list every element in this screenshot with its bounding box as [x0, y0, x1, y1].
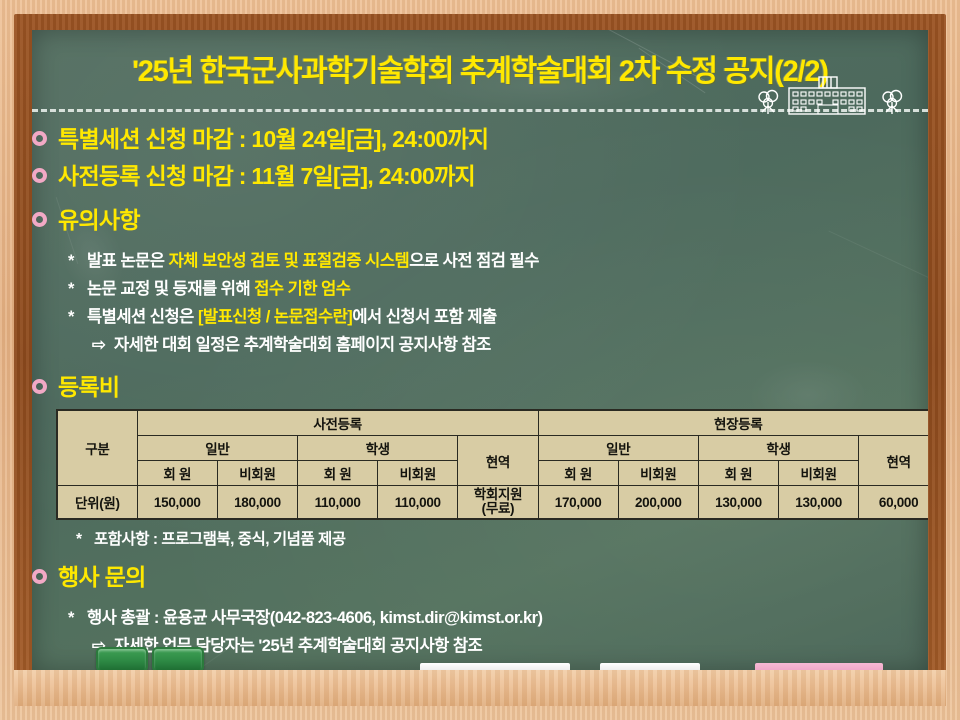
contact-item: * 행사 총괄 : 윤용균 사무국장(042-823-4606, kimst.d… — [32, 604, 928, 632]
group-header-onsite: 현장등록 — [538, 410, 928, 436]
table-header-row-2: 일반 학생 현역 일반 학생 현역 — [57, 436, 928, 461]
chalkboard-eraser[interactable] — [96, 647, 148, 672]
fee-onsite-general-nonmember: 200,000 — [618, 486, 698, 520]
fee-onsite-active-duty: 60,000 — [859, 486, 928, 520]
fee-pre-general-member: 150,000 — [137, 486, 217, 520]
notice-item-1: * 발표 논문은 자체 보안성 검토 및 표절검증 시스템으로 사전 점검 필수 — [32, 247, 928, 275]
notice-item-2: * 논문 교정 및 등재를 위해 접수 기한 엄수 — [32, 275, 928, 303]
asterisk-icon: * — [76, 527, 82, 553]
fees-footnote: * 포함사항 : 프로그램북, 중식, 기념품 제공 — [32, 527, 928, 553]
asterisk-icon: * — [68, 303, 74, 331]
chalk-ledge — [14, 670, 946, 706]
contact-heading-label: 행사 문의 — [58, 564, 146, 590]
fees-table-wrapper: 구분 사전등록 현장등록 일반 학생 현역 일반 학생 현역 회 원 비 — [32, 409, 928, 520]
leaf-header-6: 비회원 — [618, 461, 698, 486]
chalkboard: '25년 한국군사과학기술학회 추계학술대회 2차 수정 공지(2/2) — [32, 30, 928, 672]
asterisk-icon: * — [68, 604, 74, 632]
notices-heading: 유의사항 — [32, 203, 928, 237]
fees-footnote-text: 포함사항 : 프로그램북, 중식, 기념품 제공 — [94, 531, 345, 548]
fees-heading-label: 등록비 — [58, 374, 119, 400]
leaf-header-3: 회 원 — [298, 461, 378, 486]
notices-arrow-note-text: 자세한 대회 일정은 추계학술대회 홈페이지 공지사항 참조 — [114, 336, 491, 354]
deadline-1-label: 특별세션 신청 마감 : 10월 24일[금], 24:00까지 — [58, 126, 488, 152]
pink-ring-bullet-icon — [32, 168, 47, 183]
contact-item-text: 행사 총괄 : 윤용균 사무국장(042-823-4606, kimst.dir… — [87, 609, 543, 627]
fees-heading: 등록비 — [32, 370, 928, 404]
pink-ring-bullet-icon — [32, 212, 47, 227]
asterisk-icon: * — [68, 247, 74, 275]
notice-2-highlight: 접수 기한 엄수 — [254, 280, 350, 298]
chalkboard-eraser[interactable] — [152, 647, 204, 672]
notice-3-post: 에서 신청서 포함 제출 — [352, 308, 496, 326]
school-building-icon — [756, 72, 916, 118]
notices-heading-label: 유의사항 — [58, 207, 140, 233]
table-header-row-1: 구분 사전등록 현장등록 — [57, 410, 928, 436]
subgroup-onsite-general: 일반 — [538, 436, 698, 461]
content-area: 특별세션 신청 마감 : 10월 24일[금], 24:00까지 사전등록 신청… — [32, 122, 928, 672]
tree-icon — [759, 91, 778, 115]
leaf-header-7: 회 원 — [698, 461, 778, 486]
row-label-unit-won: 단위(원) — [57, 486, 137, 520]
fee-onsite-general-member: 170,000 — [538, 486, 618, 520]
free-line-2: (무료) — [482, 501, 515, 516]
right-arrow-icon: ⇨ — [92, 331, 105, 359]
table-corner-label: 구분 — [57, 410, 137, 486]
notice-1-post: 으로 사전 점검 필수 — [409, 252, 539, 270]
table-row: 단위(원) 150,000 180,000 110,000 110,000 학회… — [57, 486, 928, 520]
slide-root: '25년 한국군사과학기술학회 추계학술대회 2차 수정 공지(2/2) — [0, 0, 960, 720]
leaf-header-1: 회 원 — [137, 461, 217, 486]
fees-table: 구분 사전등록 현장등록 일반 학생 현역 일반 학생 현역 회 원 비 — [56, 409, 928, 520]
fee-pre-active-duty: 학회지원(무료) — [458, 486, 538, 520]
deadline-2-label: 사전등록 신청 마감 : 11월 7일[금], 24:00까지 — [58, 163, 475, 189]
notices-arrow-note: ⇨ 자세한 대회 일정은 추계학술대회 홈페이지 공지사항 참조 — [32, 331, 928, 359]
fee-pre-student-member: 110,000 — [298, 486, 378, 520]
pink-ring-bullet-icon — [32, 379, 47, 394]
subgroup-onsite-active-duty: 현역 — [859, 436, 928, 486]
subgroup-onsite-student: 학생 — [698, 436, 858, 461]
notice-3-pre: 특별세션 신청은 — [87, 308, 198, 326]
notice-3-highlight: [발표신청 / 논문접수란] — [198, 308, 352, 326]
contact-heading: 행사 문의 — [32, 560, 928, 594]
leaf-header-8: 비회원 — [779, 461, 859, 486]
fee-onsite-student-nonmember: 130,000 — [779, 486, 859, 520]
leaf-header-4: 비회원 — [378, 461, 458, 486]
fee-pre-student-nonmember: 110,000 — [378, 486, 458, 520]
pink-ring-bullet-icon — [32, 569, 47, 584]
fee-pre-general-nonmember: 180,000 — [217, 486, 297, 520]
leaf-header-5: 회 원 — [538, 461, 618, 486]
deadline-item-1: 특별세션 신청 마감 : 10월 24일[금], 24:00까지 — [32, 122, 928, 156]
subgroup-pre-general: 일반 — [137, 436, 297, 461]
group-header-preregistration: 사전등록 — [137, 410, 538, 436]
deadline-item-2: 사전등록 신청 마감 : 11월 7일[금], 24:00까지 — [32, 159, 928, 193]
pink-ring-bullet-icon — [32, 131, 47, 146]
tree-icon — [883, 91, 902, 115]
notice-2-pre: 논문 교정 및 등재를 위해 — [87, 280, 254, 298]
free-line-1: 학회지원 — [474, 487, 522, 502]
fee-onsite-student-member: 130,000 — [698, 486, 778, 520]
subgroup-pre-active-duty: 현역 — [458, 436, 538, 486]
notice-1-pre: 발표 논문은 — [87, 252, 169, 270]
asterisk-icon: * — [68, 275, 74, 303]
leaf-header-2: 비회원 — [217, 461, 297, 486]
notice-item-3: * 특별세션 신청은 [발표신청 / 논문접수란]에서 신청서 포함 제출 — [32, 303, 928, 331]
notice-1-highlight: 자체 보안성 검토 및 표절검증 시스템 — [169, 252, 410, 270]
subgroup-pre-student: 학생 — [298, 436, 458, 461]
